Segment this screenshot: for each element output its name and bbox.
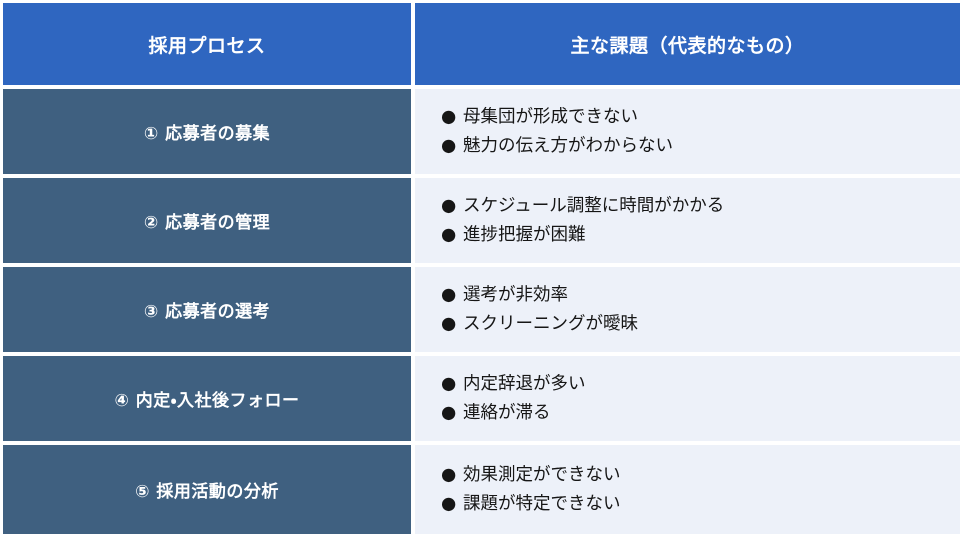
process-label: ② 応募者の管理 xyxy=(144,208,270,233)
bullet-icon: ● xyxy=(441,399,456,427)
table-row: ⑤ 採用活動の分析 xyxy=(3,445,415,534)
table-row: ● 内定辞退が多い ● 連絡が滞る xyxy=(415,356,960,445)
bullet-icon: ● xyxy=(441,461,456,489)
bullet-icon: ● xyxy=(441,490,456,518)
process-label: ⑤ 採用活動の分析 xyxy=(135,477,279,502)
recruitment-issues-table: 採用プロセス 主な課題（代表的なもの） ① 応募者の募集 ● 母集団が形成できな… xyxy=(0,0,960,538)
issue-list: ● 母集団が形成できない ● 魅力の伝え方がわからない xyxy=(429,103,946,160)
process-label: ④ 内定・入社後フォロー xyxy=(114,386,299,411)
process-label: ③ 応募者の選考 xyxy=(144,297,270,322)
bullet-icon: ● xyxy=(441,370,456,398)
bullet-icon: ● xyxy=(441,310,456,338)
list-item: ● 内定辞退が多い xyxy=(463,370,946,398)
list-item: ● 課題が特定できない xyxy=(463,490,946,518)
issue-text: 選考が非効率 xyxy=(463,285,568,305)
issue-text: 進捗把握が困難 xyxy=(463,225,586,245)
table-row: ● 効果測定ができない ● 課題が特定できない xyxy=(415,445,960,534)
table-row: ③ 応募者の選考 xyxy=(3,267,415,356)
list-item: ● 効果測定ができない xyxy=(463,461,946,489)
column-header-process: 採用プロセス xyxy=(3,3,415,89)
issue-list: ● 効果測定ができない ● 課題が特定できない xyxy=(429,461,946,518)
bullet-icon: ● xyxy=(441,132,456,160)
issue-list: ● 選考が非効率 ● スクリーニングが曖昧 xyxy=(429,281,946,338)
bullet-icon: ● xyxy=(441,221,456,249)
process-label: ① 応募者の募集 xyxy=(144,119,270,144)
table-row: ● スケジュール調整に時間がかかる ● 進捗把握が困難 xyxy=(415,178,960,267)
issue-text: スケジュール調整に時間がかかる xyxy=(463,196,724,216)
issue-list: ● スケジュール調整に時間がかかる ● 進捗把握が困難 xyxy=(429,192,946,249)
list-item: ● スケジュール調整に時間がかかる xyxy=(463,192,946,220)
issue-text: 効果測定ができない xyxy=(463,465,621,485)
bullet-icon: ● xyxy=(441,192,456,220)
list-item: ● 選考が非効率 xyxy=(463,281,946,309)
issue-text: 母集団が形成できない xyxy=(463,107,638,127)
issue-list: ● 内定辞退が多い ● 連絡が滞る xyxy=(429,370,946,427)
bullet-icon: ● xyxy=(441,281,456,309)
table-row: ● 母集団が形成できない ● 魅力の伝え方がわからない xyxy=(415,89,960,178)
issue-text: 課題が特定できない xyxy=(463,494,621,514)
issue-text: スクリーニングが曖昧 xyxy=(463,314,638,334)
list-item: ● スクリーニングが曖昧 xyxy=(463,310,946,338)
bullet-icon: ● xyxy=(441,103,456,131)
table-row: ④ 内定・入社後フォロー xyxy=(3,356,415,445)
issue-text: 魅力の伝え方がわからない xyxy=(463,136,673,156)
table-row: ① 応募者の募集 xyxy=(3,89,415,178)
table-row: ② 応募者の管理 xyxy=(3,178,415,267)
issue-text: 内定辞退が多い xyxy=(463,374,586,394)
list-item: ● 連絡が滞る xyxy=(463,399,946,427)
table-grid: 採用プロセス 主な課題（代表的なもの） ① 応募者の募集 ● 母集団が形成できな… xyxy=(3,3,960,534)
list-item: ● 母集団が形成できない xyxy=(463,103,946,131)
column-header-issues: 主な課題（代表的なもの） xyxy=(415,3,960,89)
issue-text: 連絡が滞る xyxy=(463,403,551,423)
table-row: ● 選考が非効率 ● スクリーニングが曖昧 xyxy=(415,267,960,356)
list-item: ● 進捗把握が困難 xyxy=(463,221,946,249)
list-item: ● 魅力の伝え方がわからない xyxy=(463,132,946,160)
